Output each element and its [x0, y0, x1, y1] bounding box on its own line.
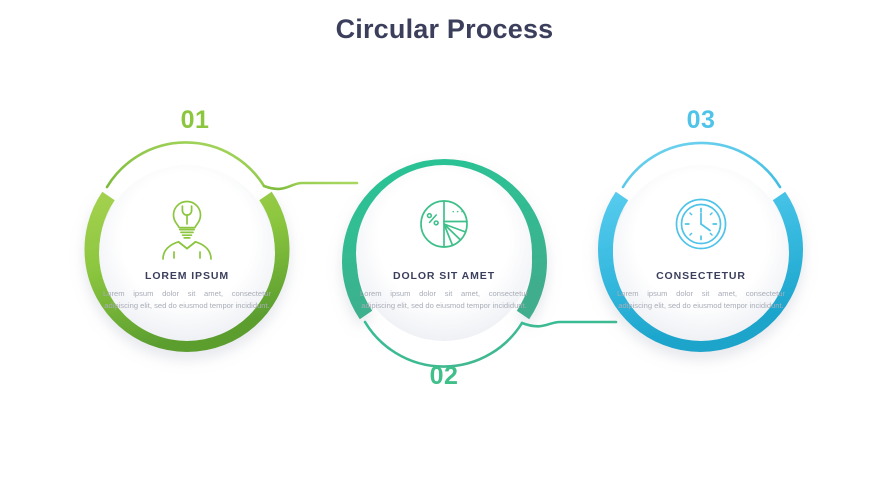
circular-process-infographic: Circular Process [0, 0, 889, 500]
step-2-card[interactable]: DOLOR SIT AMET Lorem ipsum dolor sit ame… [356, 165, 532, 341]
step-1-card[interactable]: LOREM IPSUM Lorem ipsum dolor sit amet, … [99, 165, 275, 341]
step-3-text-block: CONSECTETUR Lorem ipsum dolor sit amet, … [613, 270, 789, 313]
step-2-description: Lorem ipsum dolor sit amet, consectetur … [356, 288, 532, 313]
diagram-stage: LOREM IPSUM Lorem ipsum dolor sit amet, … [0, 0, 889, 500]
step-2-text-block: DOLOR SIT AMET Lorem ipsum dolor sit ame… [356, 270, 532, 313]
step-2-number: 02 [399, 362, 489, 391]
step-1-number: 01 [150, 106, 240, 135]
step-3-number: 03 [656, 106, 746, 135]
step-1-description: Lorem ipsum dolor sit amet, consectetur … [99, 288, 275, 313]
connector-step2-to-step3 [522, 322, 616, 326]
connector-step1-to-step2 [264, 183, 357, 189]
step-2-title: DOLOR SIT AMET [356, 270, 532, 282]
step-3-title: CONSECTETUR [613, 270, 789, 282]
step-3-card[interactable]: CONSECTETUR Lorem ipsum dolor sit amet, … [613, 165, 789, 341]
step-3-description: Lorem ipsum dolor sit amet, consectetur … [613, 288, 789, 313]
step-1-title: LOREM IPSUM [99, 270, 275, 282]
step-1-text-block: LOREM IPSUM Lorem ipsum dolor sit amet, … [99, 270, 275, 313]
